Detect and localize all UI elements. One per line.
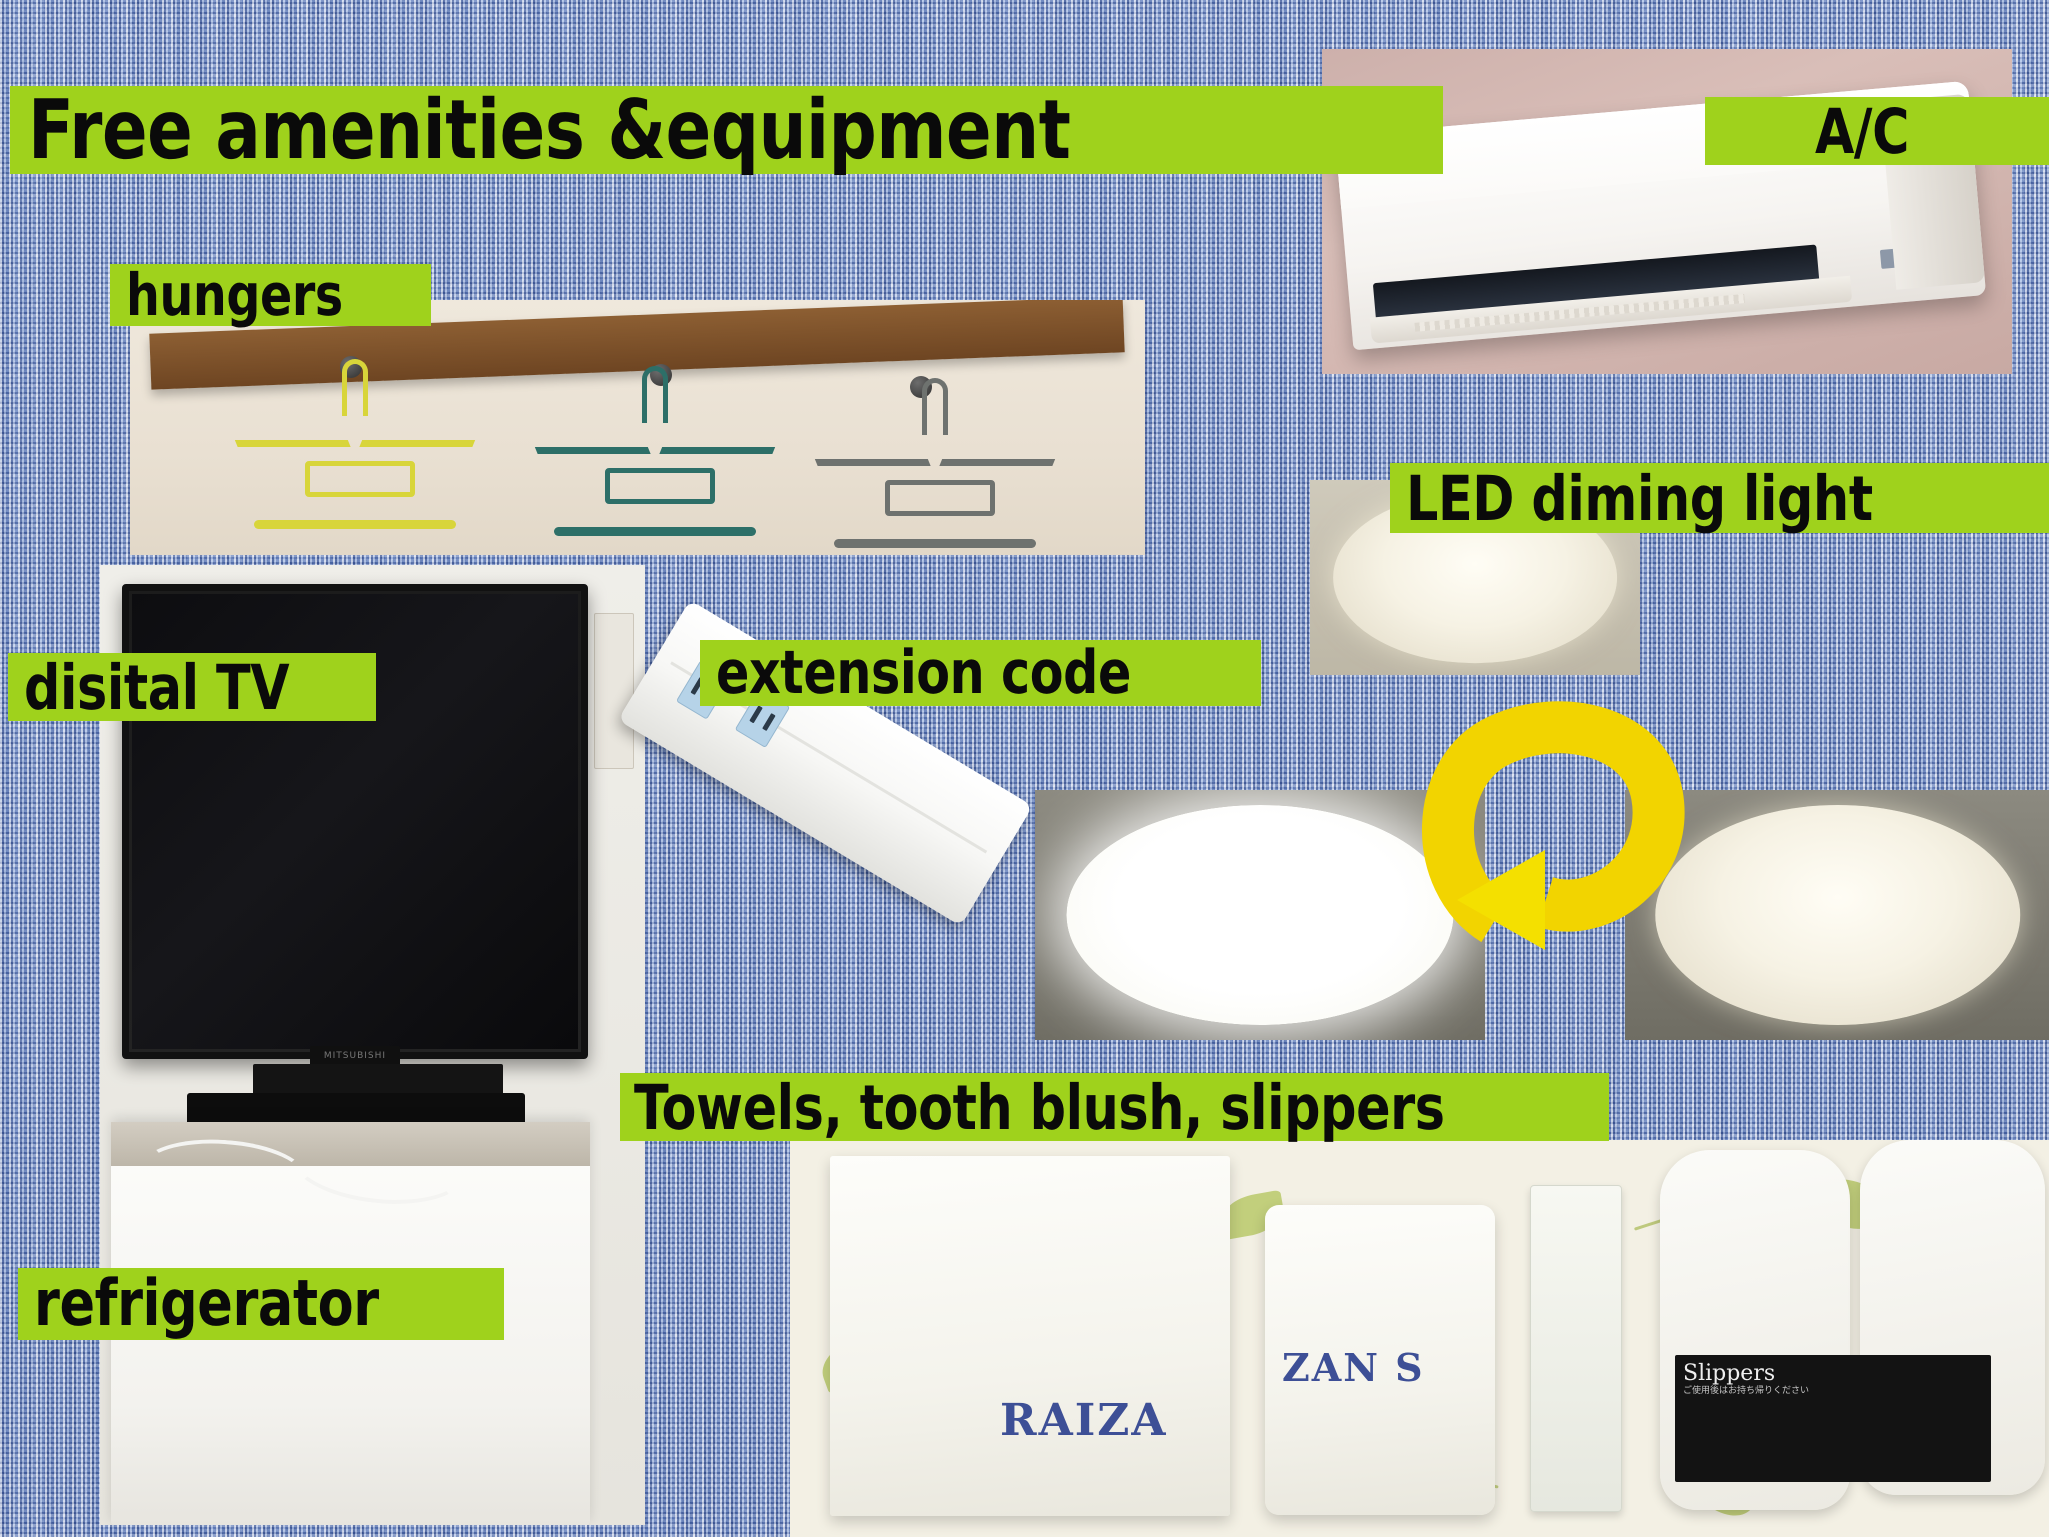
towel-rolled-text: ZAN S: [1282, 1345, 1425, 1390]
towel-large: [830, 1156, 1230, 1516]
hanger-hook-wire: [642, 366, 668, 423]
label-extension-text: extension code: [716, 638, 1131, 708]
poster-canvas: MITSUBISHI: [0, 0, 2049, 1537]
hanger-hook-wire: [922, 378, 948, 435]
hanger-clip-bar: [305, 461, 416, 497]
label-tv-text: disital TV: [24, 651, 289, 724]
label-title: Free amenities &equipment: [10, 86, 1443, 174]
slipper-label-tag: Slippers ご使用後はお持ち帰りください: [1675, 1355, 1991, 1482]
hanger-clip-bar: [605, 468, 716, 504]
label-towels: Towels, tooth blush, slippers: [620, 1073, 1609, 1141]
wall-outlet-plate: [594, 613, 634, 769]
toothbrush-package: [1530, 1185, 1622, 1512]
label-towels-text: Towels, tooth blush, slippers: [634, 1071, 1445, 1144]
label-ac-text: A/C: [1815, 95, 1909, 168]
hanger-teal: [550, 412, 760, 542]
hanger-clip-bar: [885, 480, 996, 516]
yellow-cycle-arrow: [1395, 620, 1725, 970]
label-title-text: Free amenities &equipment: [28, 83, 1070, 178]
hanger-bottom-bar: [254, 520, 456, 529]
label-refrigerator-text: refrigerator: [34, 1267, 379, 1341]
label-extension-cord: extension code: [700, 640, 1261, 706]
tv-brand-label: MITSUBISHI: [310, 1046, 400, 1066]
label-led-light: LED diming light: [1390, 463, 2049, 533]
towel-large-text: RAIZA: [1000, 1395, 1168, 1446]
label-digital-tv: disital TV: [8, 653, 376, 721]
hanger-bottom-bar: [834, 539, 1036, 548]
slipper-tag-title: Slippers: [1683, 1361, 1775, 1386]
label-refrigerator: refrigerator: [18, 1268, 504, 1340]
slipper-tag-subtitle: ご使用後はお持ち帰りください: [1683, 1386, 1983, 1396]
hanger-hook-wire: [342, 359, 368, 416]
label-hangers: hungers: [110, 264, 431, 326]
hanger-bottom-bar: [554, 527, 756, 536]
photo-towels-amenities: RAIZA ZAN S Slippers ご使用後はお持ち帰りください: [790, 1140, 2049, 1537]
photo-hangers: [130, 300, 1145, 555]
label-led-text: LED diming light: [1406, 462, 1873, 535]
hanger-yellow: [250, 405, 460, 535]
label-hangers-text: hungers: [126, 261, 343, 329]
hanger-gray: [830, 424, 1040, 554]
label-air-conditioner: A/C: [1705, 97, 2049, 165]
